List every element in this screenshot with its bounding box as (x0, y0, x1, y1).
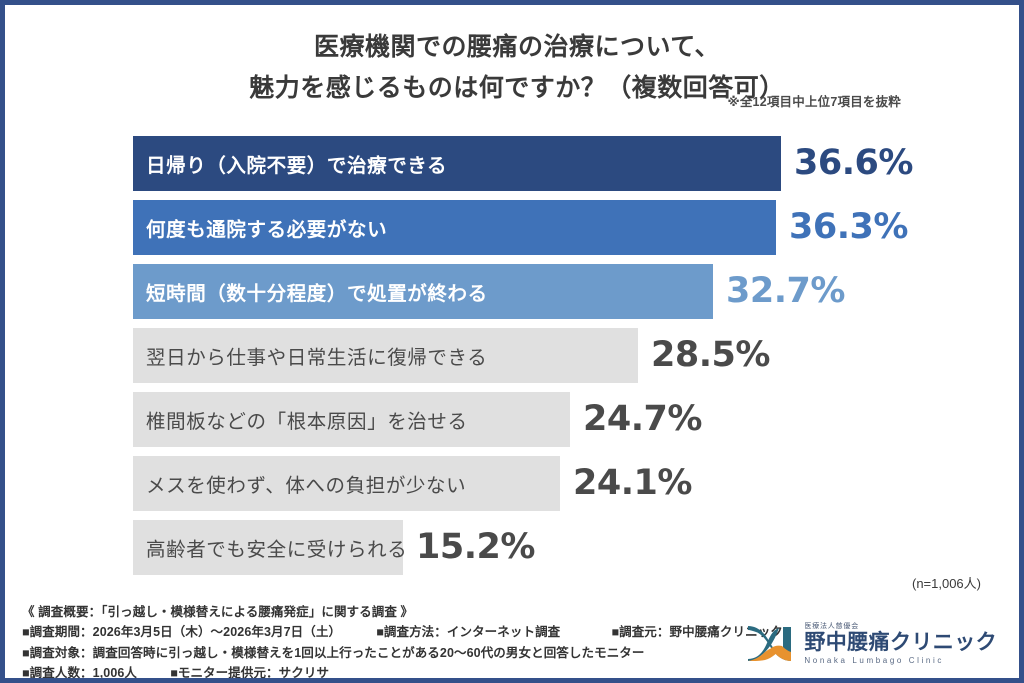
bar-3: 短時間（数十分程度）で処置が終わる (133, 264, 713, 319)
chart-row: 短時間（数十分程度）で処置が終わる 32.7% (133, 264, 1013, 319)
bar-1: 日帰り（入院不要）で治療できる (133, 136, 781, 191)
bar-label-4: 翌日から仕事や日常生活に復帰できる (146, 341, 487, 370)
bar-2: 何度も通院する必要がない (133, 200, 776, 255)
footer-count: ■調査人数：1,006人 (22, 666, 137, 680)
bar-label-3: 短時間（数十分程度）で処置が終わる (146, 277, 488, 306)
clinic-logo: 医療法人慈優会 野中腰痛クリニック Nonaka Lumbago Clinic (745, 621, 997, 667)
bar-label-7: 高齢者でも安全に受けられる (146, 533, 407, 562)
bar-value-6: 24.1% (573, 463, 692, 503)
footer-line-2: ■調査期間：2026年3月5日（木）〜2026年3月7日（土） ■調査方法：イン… (22, 622, 842, 642)
logo-clinic-name: 野中腰痛クリニック (804, 632, 997, 654)
bar-value-1: 36.6% (794, 143, 913, 183)
logo-corporation: 医療法人慈優会 (804, 623, 997, 631)
footer-line-1: 《 調査概要：「引っ越し・模様替えによる腰痛発症」に関する調査 》 (22, 602, 842, 622)
footer-line-4: ■調査人数：1,006人 ■モニター提供元：サクリサ (22, 663, 842, 683)
chart-row: 翌日から仕事や日常生活に復帰できる 28.5% (133, 328, 1013, 383)
bar-label-6: メスを使わず、体への負担が少ない (146, 469, 466, 498)
title-note: ※全12項目中上位7項目を抜粋 (727, 91, 901, 110)
bar-value-2: 36.3% (789, 207, 908, 247)
logo-roman-name: Nonaka Lumbago Clinic (804, 656, 997, 666)
survey-footer: 《 調査概要：「引っ越し・模様替えによる腰痛発症」に関する調査 》 ■調査期間：… (22, 602, 842, 683)
bar-5: 椎間板などの「根本原因」を治せる (133, 392, 570, 447)
bar-value-7: 15.2% (416, 527, 535, 567)
footer-method: ■調査方法：インターネット調査 (376, 625, 560, 639)
bar-value-5: 24.7% (583, 399, 702, 439)
bar-label-1: 日帰り（入院不要）で治療できる (146, 149, 447, 178)
chart-row: 何度も通院する必要がない 36.3% (133, 200, 1013, 255)
bar-label-2: 何度も通院する必要がない (146, 213, 387, 242)
chart-row: メスを使わず、体への負担が少ない 24.1% (133, 456, 1013, 511)
footer-period: ■調査期間：2026年3月5日（木）〜2026年3月7日（土） (22, 625, 341, 639)
title-line-1: 医療機関での腰痛の治療について、 (5, 27, 1024, 68)
infographic-poster: 医療機関での腰痛の治療について、 魅力を感じるものは何ですか？（複数回答可） ※… (0, 0, 1024, 683)
bar-value-4: 28.5% (651, 335, 770, 375)
bar-6: メスを使わず、体への負担が少ない (133, 456, 560, 511)
sample-size-note: (n=1,006人) (912, 573, 981, 592)
bar-chart: 日帰り（入院不要）で治療できる 36.6% 何度も通院する必要がない 36.3%… (133, 136, 1013, 584)
bar-7: 高齢者でも安全に受けられる (133, 520, 403, 575)
chart-row: 椎間板などの「根本原因」を治せる 24.7% (133, 392, 1013, 447)
bar-value-3: 32.7% (726, 271, 845, 311)
footer-provider: ■モニター提供元：サクリサ (170, 666, 329, 680)
logo-text-group: 医療法人慈優会 野中腰痛クリニック Nonaka Lumbago Clinic (804, 623, 997, 665)
footer-line-3: ■調査対象：調査回答時に引っ越し・模様替えを1回以上行ったことがある20〜60代… (22, 643, 842, 663)
bar-4: 翌日から仕事や日常生活に復帰できる (133, 328, 638, 383)
bar-label-5: 椎間板などの「根本原因」を治せる (146, 405, 468, 434)
nonaka-n-mark-icon (745, 621, 795, 667)
chart-row: 日帰り（入院不要）で治療できる 36.6% (133, 136, 1013, 191)
chart-row: 高齢者でも安全に受けられる 15.2% (133, 520, 1013, 575)
